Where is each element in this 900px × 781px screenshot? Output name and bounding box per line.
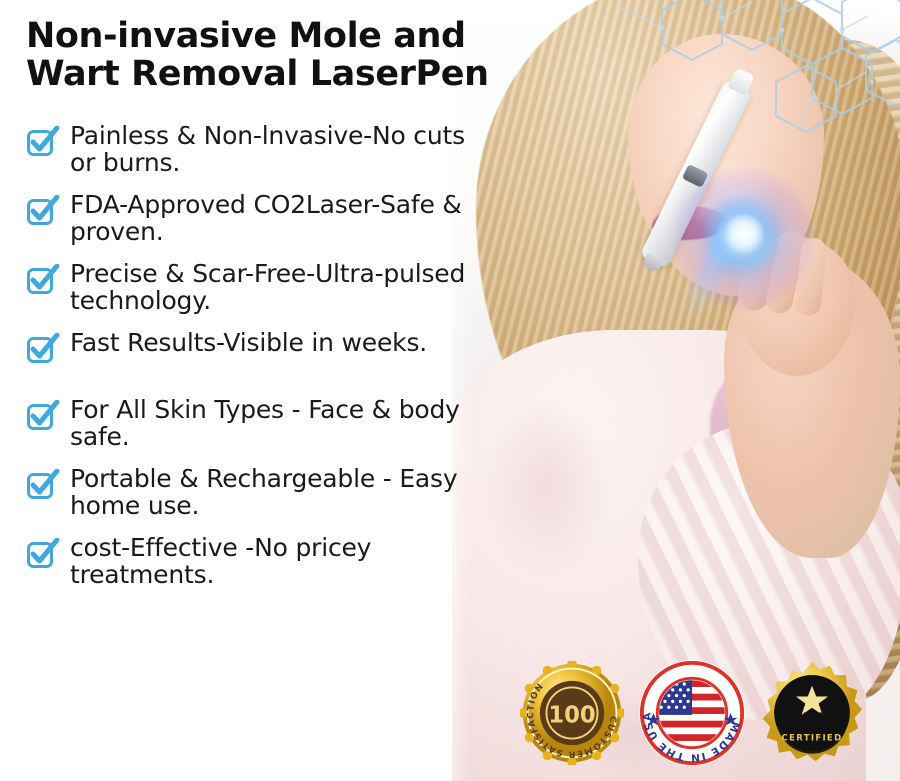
list-item: Painless & Non-lnvasive-No cuts or burns… [26,122,540,176]
feature-label: Fast Results-Visible in weeks. [70,329,427,356]
customer-satisfaction-badge: 100 CUSTOMER SATISFACTION GUARANTEE [520,661,624,765]
checkbox-checked-icon [26,400,60,432]
list-item: Fast Results-Visible in weeks. [26,329,540,381]
checkbox-checked-icon [26,126,60,158]
feature-label: Precise & Scar-Free-Ultra-pulsed technol… [70,260,490,314]
list-item: FDA-Approved CO2Laser-Safe & proven. [26,191,540,245]
gmp-sub-text: CERTIFIED [782,733,843,743]
list-item: Precise & Scar-Free-Ultra-pulsed technol… [26,260,540,314]
feature-label: cost-Effective -No pricey treatments. [70,534,490,588]
checkbox-checked-icon [26,264,60,296]
checkbox-checked-icon [26,538,60,570]
poster-content: Non-invasive Mole and Wart Removal Laser… [0,0,540,781]
list-item: Portable & Rechargeable - Easy home use. [26,465,540,519]
gmp-main-text-top: GMP [784,709,839,734]
page-title: Non-invasive Mole and Wart Removal Laser… [26,18,540,94]
checkbox-checked-icon [26,195,60,227]
list-item: cost-Effective -No pricey treatments. [26,534,540,588]
checkbox-checked-icon [26,333,60,365]
product-feature-poster: Non-invasive Mole and Wart Removal Laser… [0,0,900,781]
laser-glow-core [724,214,764,254]
made-in-usa-badge: MADE IN THE USA MADE IN THE USA [638,659,746,767]
feature-label: Portable & Rechargeable - Easy home use. [70,465,490,519]
feature-label: FDA-Approved CO2Laser-Safe & proven. [70,191,490,245]
checkbox-checked-icon [26,469,60,501]
feature-label: Painless & Non-lnvasive-No cuts or burns… [70,122,490,176]
gmp-certified-badge: GMP CERTIFIED GMP [760,661,864,765]
list-item: For All Skin Types - Face & body safe. [26,396,540,450]
feature-label: For All Skin Types - Face & body safe. [70,396,490,450]
feature-list: Painless & Non-lnvasive-No cuts or burns… [26,122,540,588]
trust-badges: 100 CUSTOMER SATISFACTION GUARANTEE [520,653,900,773]
satisfaction-score: 100 [548,702,595,728]
